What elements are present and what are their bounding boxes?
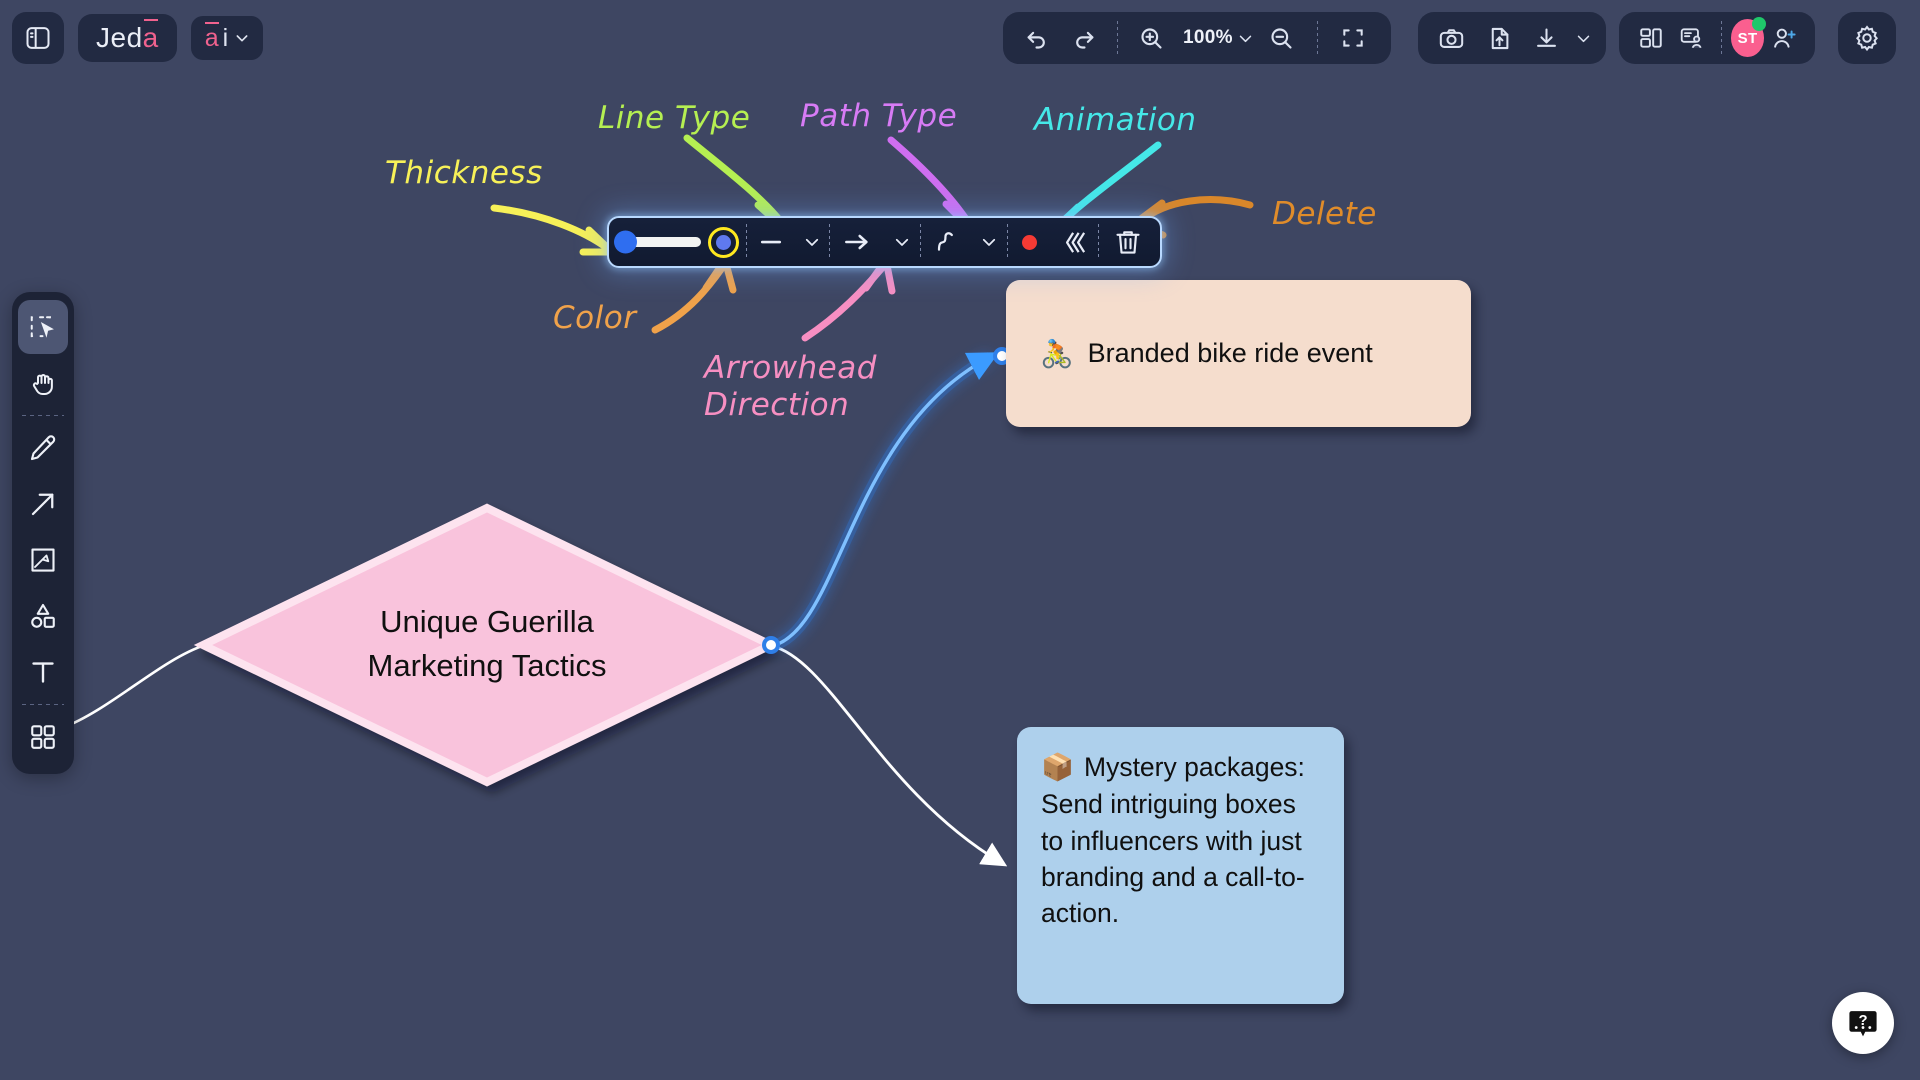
topbar-left-group: Jeda a i xyxy=(12,12,263,64)
annotation-label-color: Color xyxy=(553,300,636,337)
grid-apps-icon xyxy=(28,722,58,752)
file-upload-icon xyxy=(1486,25,1513,52)
presentation-icon xyxy=(1679,25,1705,51)
sidebar-item-shapes[interactable] xyxy=(18,589,68,643)
edge-style-toolbar xyxy=(607,216,1162,268)
sidebar-item-select[interactable] xyxy=(18,300,68,354)
annotation-arrow-color xyxy=(655,260,733,330)
redo-icon xyxy=(1071,25,1098,52)
animation-color-dot xyxy=(1022,235,1037,250)
download-options-dropdown[interactable] xyxy=(1570,12,1596,64)
add-user-icon xyxy=(1771,25,1797,51)
sidebar-item-hand[interactable] xyxy=(18,356,68,410)
layout-split-icon xyxy=(1638,25,1664,51)
sidebar-item-pen[interactable] xyxy=(18,421,68,475)
ai-menu-a: a xyxy=(205,26,219,51)
trash-icon xyxy=(1113,227,1143,257)
annotation-label-delete: Delete xyxy=(1272,196,1377,233)
annotation-label-thickness: Thickness xyxy=(385,155,543,192)
annotation-arrow-thickness xyxy=(494,208,612,252)
animation-color-button[interactable] xyxy=(1008,218,1050,266)
chevron-down-icon xyxy=(980,233,998,251)
arrow-right-icon xyxy=(841,226,873,258)
help-question-icon: ? xyxy=(1846,1006,1880,1040)
chevron-down-icon xyxy=(1237,30,1254,47)
chevron-down-icon xyxy=(893,233,911,251)
zoom-level-dropdown[interactable]: 100% xyxy=(1176,12,1257,64)
sticky-note-mystery[interactable]: 📦Mystery packages: Send intriguing boxes… xyxy=(1017,727,1344,1004)
path-type-button[interactable] xyxy=(921,218,971,266)
brand-name: Jed xyxy=(96,22,143,54)
annotation-label-line-type: Line Type xyxy=(598,100,750,137)
zoom-in-icon xyxy=(1138,25,1165,52)
download-icon xyxy=(1533,25,1560,52)
line-type-dropdown[interactable] xyxy=(795,218,829,266)
solid-line-icon xyxy=(756,227,786,257)
edge-thickness-slider[interactable] xyxy=(609,218,701,266)
avatar-initials: ST xyxy=(1738,30,1758,47)
chevron-down-icon xyxy=(1575,30,1592,47)
cyclist-emoji-icon: 🚴 xyxy=(1040,338,1074,370)
node-diamond-line1: Unique Guerilla xyxy=(380,604,594,639)
topbar-navigation-group: 100% xyxy=(1003,12,1391,64)
avatar[interactable]: ST xyxy=(1731,19,1764,57)
layout-split-button[interactable] xyxy=(1631,12,1671,64)
animation-button[interactable] xyxy=(1050,218,1098,266)
upload-button[interactable] xyxy=(1475,12,1522,64)
presentation-button[interactable] xyxy=(1671,12,1711,64)
chevron-down-icon xyxy=(234,30,250,46)
sidebar-item-apps[interactable] xyxy=(18,710,68,764)
toolbar-divider xyxy=(22,704,64,705)
brand-name-accent: a xyxy=(143,22,159,54)
sticky-note-bike[interactable]: 🚴 Branded bike ride event xyxy=(1006,280,1471,427)
sticky-note-bike-text: Branded bike ride event xyxy=(1088,338,1373,369)
redo-button[interactable] xyxy=(1061,12,1107,64)
path-type-dropdown[interactable] xyxy=(971,218,1007,266)
camera-icon xyxy=(1438,25,1465,52)
undo-button[interactable] xyxy=(1013,12,1059,64)
sidebar-panel-toggle-button[interactable] xyxy=(12,12,64,64)
screenshot-button[interactable] xyxy=(1428,12,1475,64)
node-diamond-line2: Marketing Tactics xyxy=(368,648,607,683)
annotation-label-arrowhead-direction: Arrowhead Direction xyxy=(704,350,877,423)
annotation-arrow-arrowhead xyxy=(805,260,892,338)
download-button[interactable] xyxy=(1523,12,1570,64)
toolbar-divider xyxy=(1317,21,1318,55)
sidebar-item-note[interactable] xyxy=(18,533,68,587)
arrow-connector-icon xyxy=(28,489,58,519)
help-button[interactable]: ? xyxy=(1832,992,1894,1054)
topbar-settings-group xyxy=(1838,12,1896,64)
brand-logo-button[interactable]: Jeda xyxy=(78,14,177,62)
ai-menu-i: i xyxy=(223,26,229,51)
left-toolbar xyxy=(12,292,74,774)
annotation-label-path-type: Path Type xyxy=(800,98,957,135)
zoom-level-label: 100% xyxy=(1179,27,1237,49)
canvas-edges-layer: Unique Guerilla Marketing Tactics xyxy=(0,0,1920,1080)
color-swatch xyxy=(708,227,739,258)
delete-edge-button[interactable] xyxy=(1099,218,1157,266)
ai-menu-button[interactable]: a i xyxy=(191,16,263,60)
color-swatch-fill xyxy=(716,235,731,250)
undo-icon xyxy=(1023,25,1050,52)
curved-path-icon xyxy=(932,228,960,256)
toolbar-divider xyxy=(22,415,64,416)
zoom-out-icon xyxy=(1268,25,1295,52)
pencil-icon xyxy=(28,433,58,463)
zoom-out-button[interactable] xyxy=(1259,12,1305,64)
chevron-down-icon xyxy=(803,233,821,251)
package-emoji-icon: 📦 xyxy=(1041,752,1074,783)
fit-to-screen-icon xyxy=(1340,25,1366,51)
edge-handle-source[interactable] xyxy=(762,636,780,654)
sticky-note-mystery-text: Mystery packages: Send intriguing boxes … xyxy=(1041,752,1305,928)
sidebar-item-text[interactable] xyxy=(18,645,68,699)
line-type-button[interactable] xyxy=(747,218,795,266)
animation-chevrons-icon xyxy=(1058,226,1091,259)
canvas-app: Unique Guerilla Marketing Tactics xyxy=(0,0,1920,1080)
zoom-in-button[interactable] xyxy=(1128,12,1174,64)
fit-to-screen-button[interactable] xyxy=(1330,12,1376,64)
select-cursor-icon xyxy=(28,312,58,342)
edge-incoming xyxy=(62,645,205,728)
add-user-button[interactable] xyxy=(1764,12,1803,64)
annotation-arrows-layer xyxy=(0,0,1920,1080)
hand-pan-icon xyxy=(28,368,58,398)
arrowhead-direction-button[interactable] xyxy=(830,218,884,266)
sidebar-item-arrow[interactable] xyxy=(18,477,68,531)
annotation-label-animation: Animation xyxy=(1034,102,1197,139)
sticky-note-icon xyxy=(28,545,58,575)
toolbar-divider xyxy=(1721,21,1722,55)
thickness-knob[interactable] xyxy=(614,231,637,254)
topbar-collaboration-group: ST xyxy=(1619,12,1815,64)
node-diamond xyxy=(203,508,771,782)
settings-button[interactable] xyxy=(1841,12,1893,64)
text-tool-icon xyxy=(28,657,58,687)
edge-color-button[interactable] xyxy=(701,218,746,266)
sidebar-panel-icon xyxy=(24,24,52,52)
arrowhead-direction-dropdown[interactable] xyxy=(884,218,920,266)
edge-mystery xyxy=(772,646,1000,862)
toolbar-divider xyxy=(1117,21,1118,55)
gear-icon xyxy=(1853,24,1881,52)
topbar-export-group xyxy=(1418,12,1606,64)
shapes-icon xyxy=(28,601,58,631)
